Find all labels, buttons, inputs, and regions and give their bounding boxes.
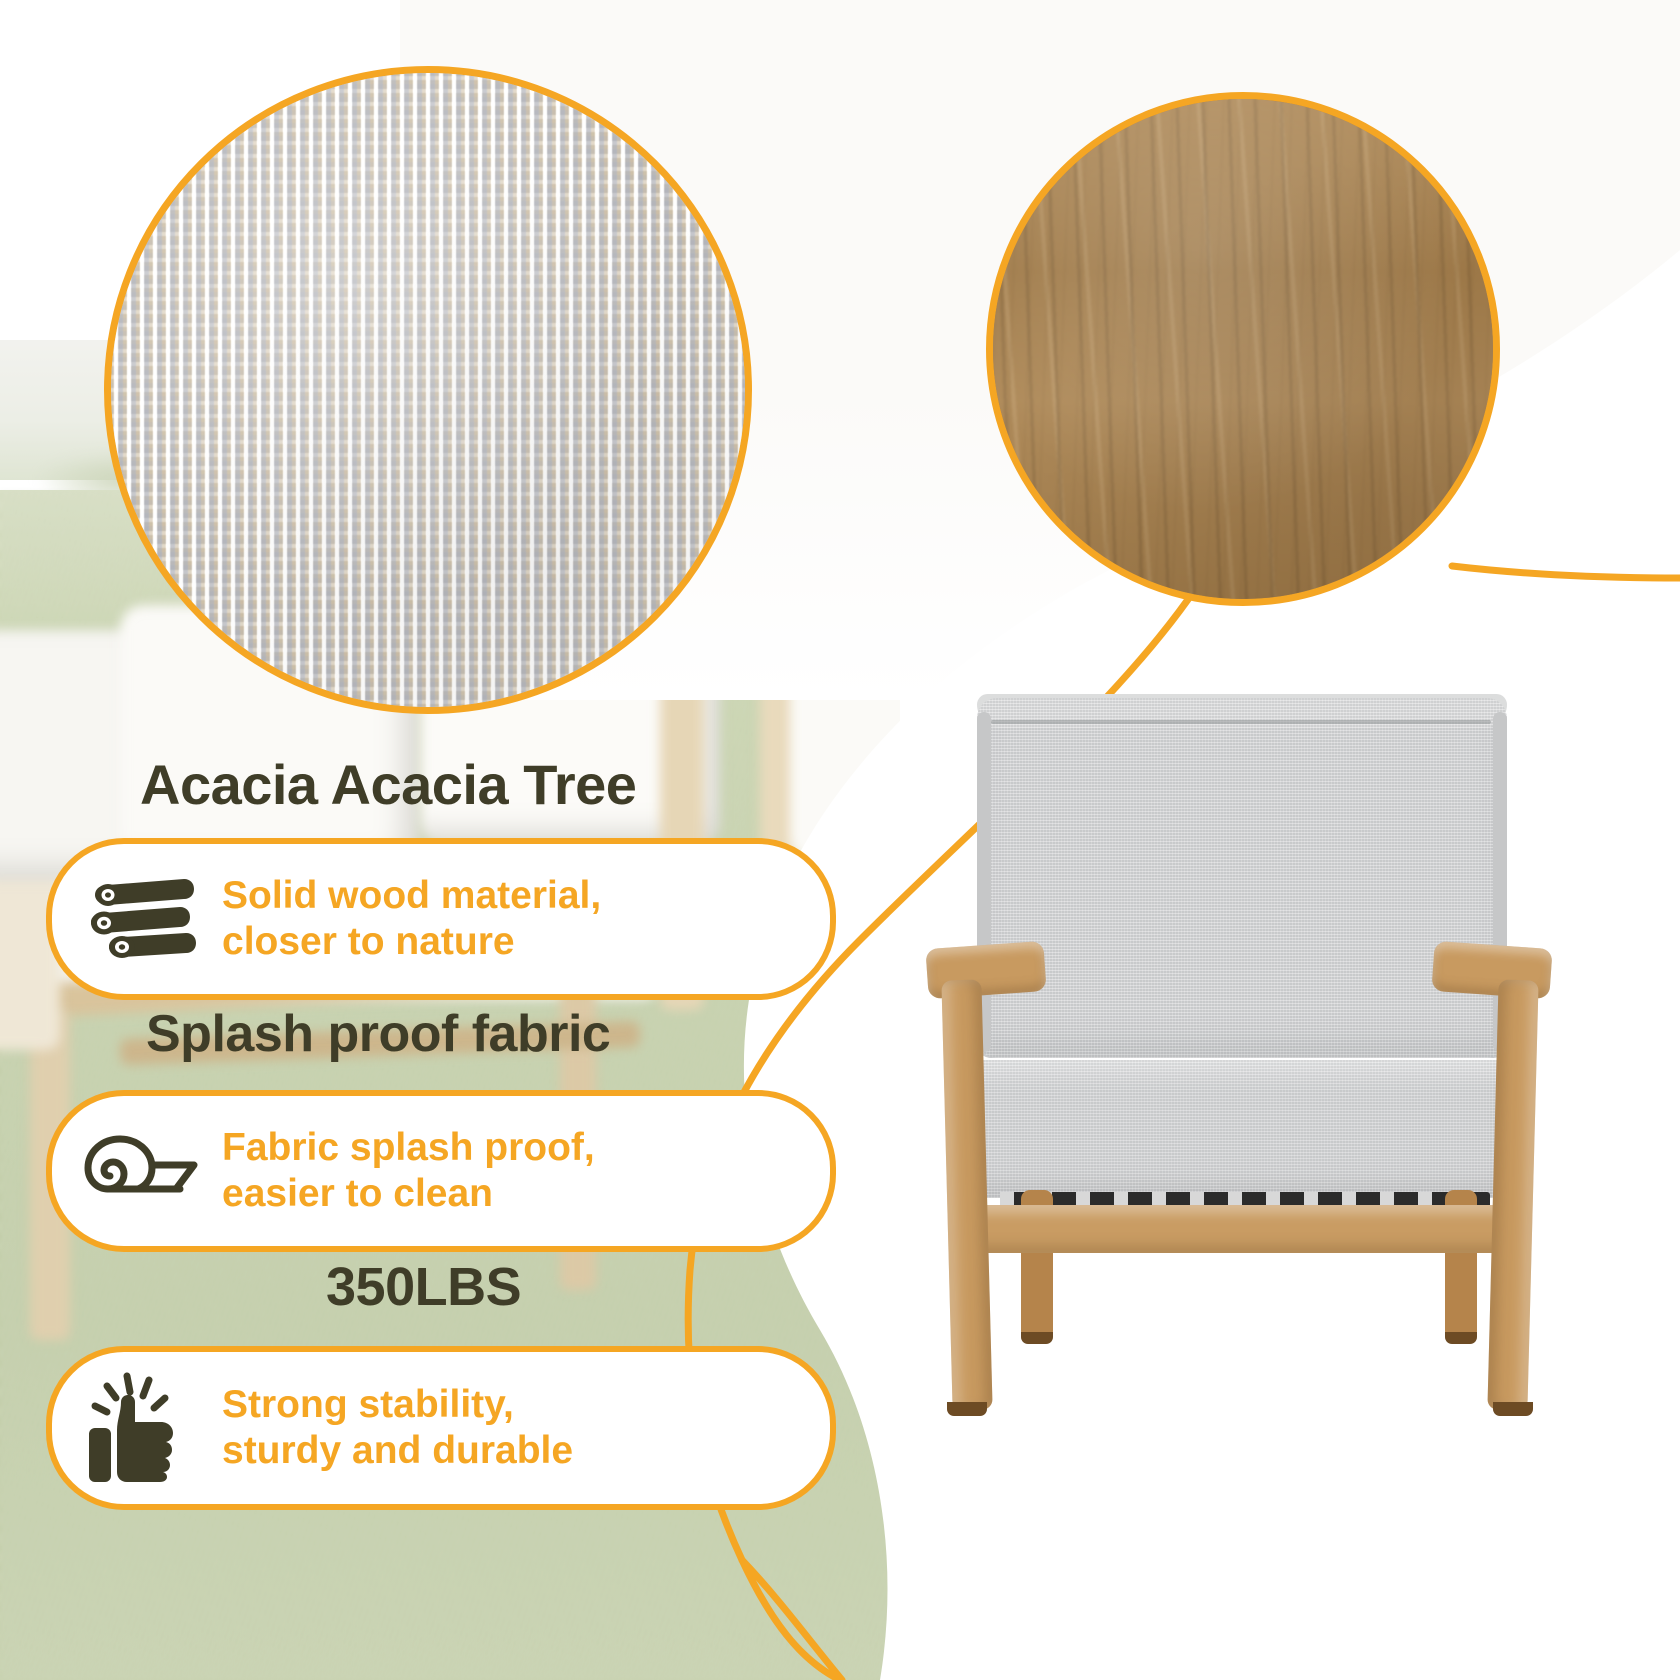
- feature-line-2: closer to nature: [222, 919, 601, 965]
- fabric-swatch: [104, 66, 752, 714]
- fabric-roll-icon: [52, 1123, 222, 1219]
- wood-swatch: [986, 92, 1500, 606]
- chair-foot-back-right: [1445, 1332, 1477, 1344]
- heading-fabric: Splash proof fabric: [146, 1004, 610, 1064]
- heading-capacity: 350LBS: [326, 1256, 521, 1318]
- feature-line-1: Fabric splash proof,: [222, 1125, 595, 1171]
- wood-shading: [993, 99, 1493, 599]
- feature-pill-splash-proof[interactable]: Fabric splash proof, easier to clean: [46, 1090, 836, 1252]
- chair-front-rail: [963, 1205, 1519, 1253]
- product-chair-image: [905, 690, 1565, 1490]
- chair-foot-front-left: [947, 1402, 987, 1416]
- chair-foot-front-right: [1493, 1402, 1533, 1416]
- feature-line-2: easier to clean: [222, 1171, 595, 1217]
- chair-back-cushion-texture: [977, 698, 1507, 1058]
- chair-seat-cushion-texture: [955, 1060, 1527, 1198]
- feature-text-solid-wood: Solid wood material, closer to nature: [222, 873, 601, 965]
- feature-line-2: sturdy and durable: [222, 1428, 573, 1474]
- logs-icon: [52, 871, 222, 967]
- feature-text-stability: Strong stability, sturdy and durable: [222, 1382, 573, 1474]
- infographic-canvas: Acacia Acacia Tree Splash proof fabric 3…: [0, 0, 1680, 1680]
- feature-pill-stability[interactable]: Strong stability, sturdy and durable: [46, 1346, 836, 1510]
- feature-line-1: Solid wood material,: [222, 873, 601, 919]
- thumbs-up-icon: [52, 1372, 222, 1484]
- feature-pill-solid-wood[interactable]: Solid wood material, closer to nature: [46, 838, 836, 1000]
- feature-line-1: Strong stability,: [222, 1382, 573, 1428]
- chair-foot-back-left: [1021, 1332, 1053, 1344]
- chair-back-cushion-seam: [991, 720, 1491, 724]
- fabric-shading: [111, 73, 745, 707]
- feature-text-splash-proof: Fabric splash proof, easier to clean: [222, 1125, 595, 1217]
- heading-material: Acacia Acacia Tree: [140, 752, 636, 817]
